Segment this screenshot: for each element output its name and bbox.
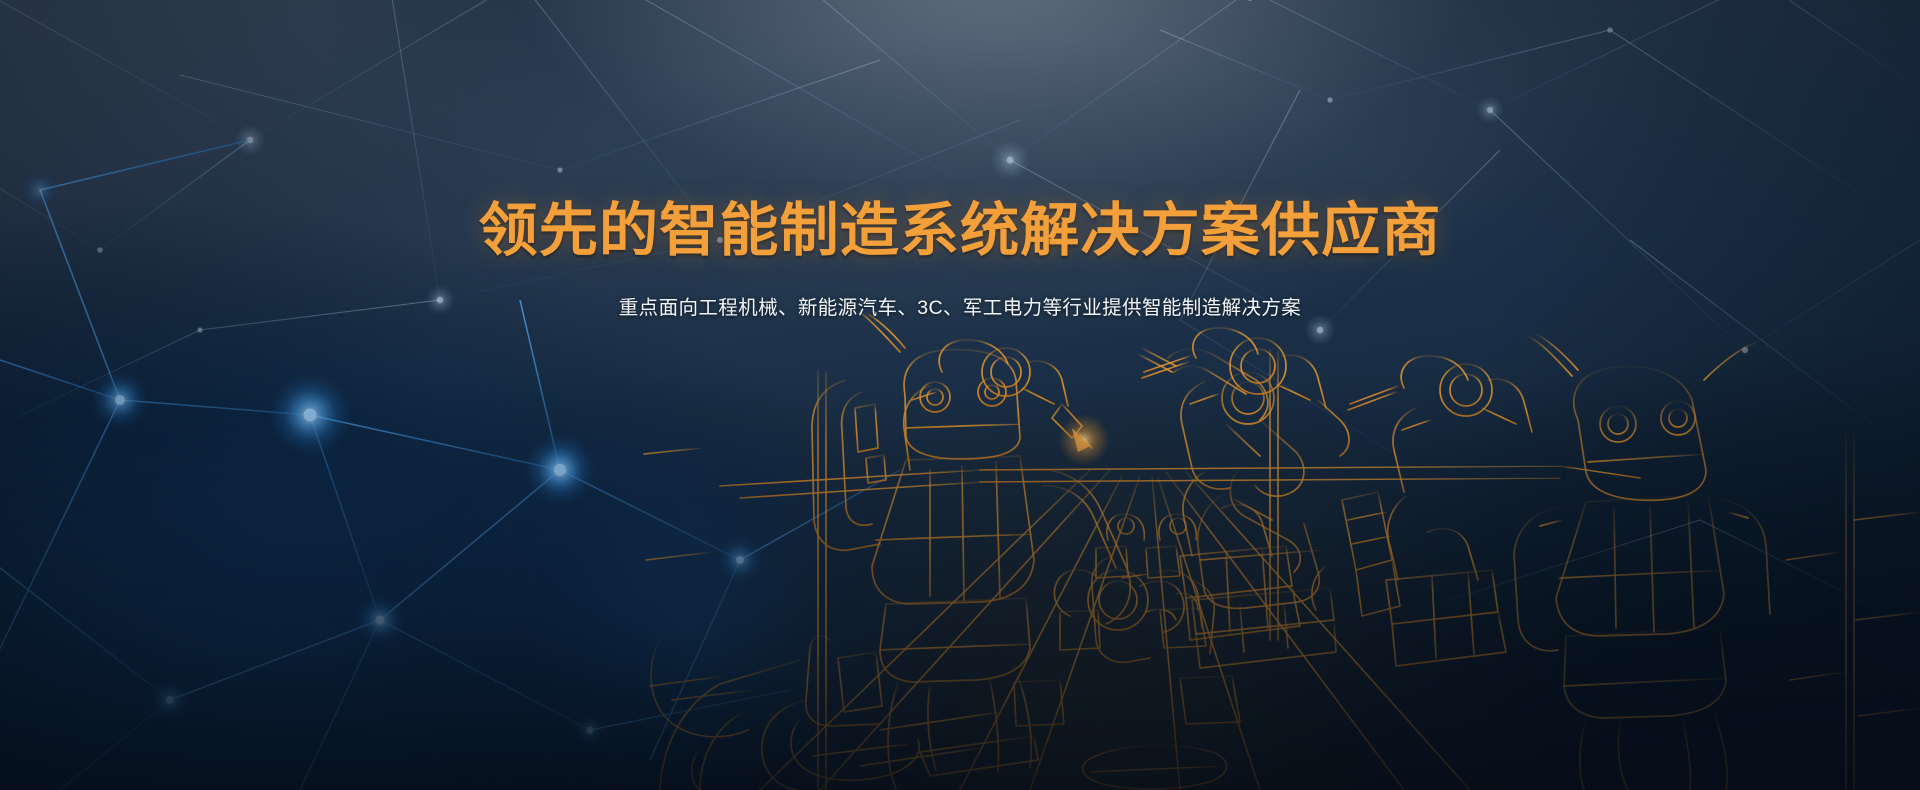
page-subtitle: 重点面向工程机械、新能源汽车、3C、军工电力等行业提供智能制造解决方案	[0, 294, 1920, 323]
hero-copy-block: 领先的智能制造系统解决方案供应商 重点面向工程机械、新能源汽车、3C、军工电力等…	[0, 196, 1920, 324]
background-bottom-fade	[0, 370, 1920, 790]
hero-banner: 领先的智能制造系统解决方案供应商 重点面向工程机械、新能源汽车、3C、军工电力等…	[0, 0, 1920, 790]
page-title: 领先的智能制造系统解决方案供应商	[0, 196, 1920, 264]
